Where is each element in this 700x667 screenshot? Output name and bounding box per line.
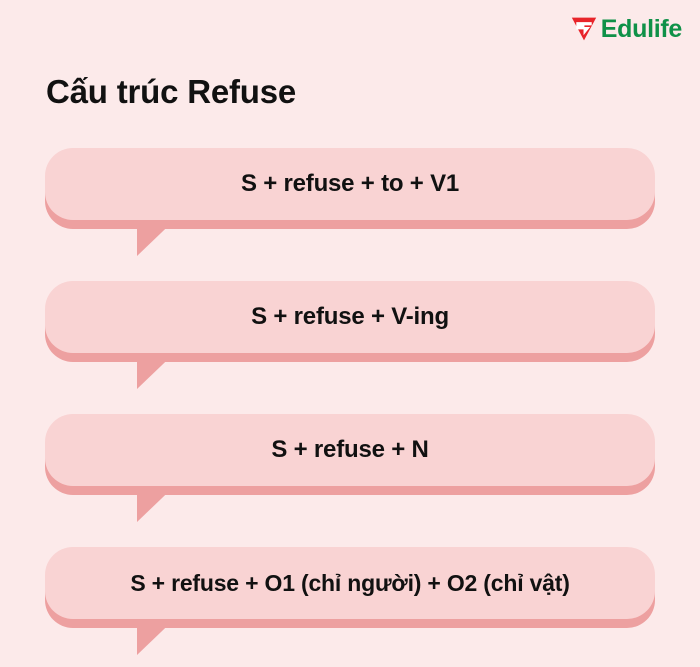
- bubble-body: S + refuse + N: [45, 414, 655, 486]
- bubble-body: S + refuse + to + V1: [45, 148, 655, 220]
- structure-bubble: S + refuse + N: [45, 414, 655, 486]
- bubble-body: S + refuse + V-ing: [45, 281, 655, 353]
- structure-text: S + refuse + O1 (chỉ người) + O2 (chỉ vậ…: [130, 569, 569, 598]
- structure-bubble-list: S + refuse + to + V1 S + refuse + V-ing …: [0, 0, 700, 667]
- structure-text: S + refuse + to + V1: [241, 169, 459, 199]
- structure-bubble: S + refuse + O1 (chỉ người) + O2 (chỉ vậ…: [45, 547, 655, 619]
- structure-text: S + refuse + N: [271, 435, 428, 465]
- structure-bubble: S + refuse + to + V1: [45, 148, 655, 220]
- structure-text: S + refuse + V-ing: [251, 302, 449, 332]
- structure-bubble: S + refuse + V-ing: [45, 281, 655, 353]
- bubble-body: S + refuse + O1 (chỉ người) + O2 (chỉ vậ…: [45, 547, 655, 619]
